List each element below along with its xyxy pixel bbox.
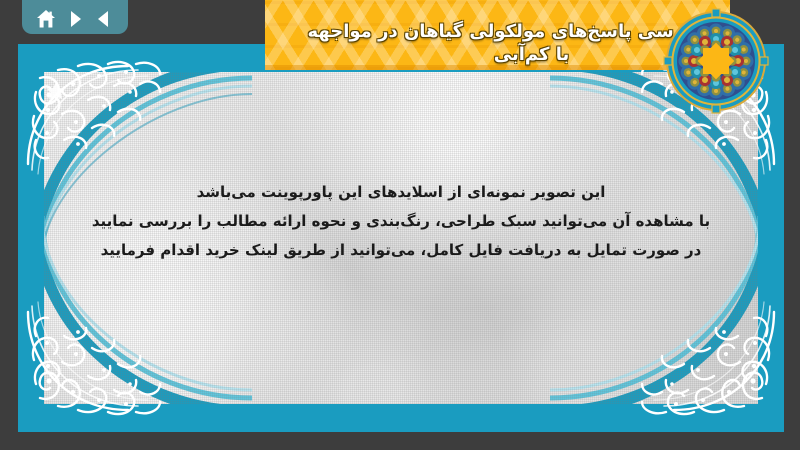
slide-body-text: این تصویر نمونه‌ای از اسلایدهای این پاور… [58,182,744,269]
previous-arrow-icon[interactable] [94,9,114,29]
next-arrow-icon[interactable] [65,9,85,29]
desktop-background: این تصویر نمونه‌ای از اسلایدهای این پاور… [0,0,800,450]
body-line-1: این تصویر نمونه‌ای از اسلایدهای این پاور… [58,182,744,203]
slide-navigation-bar[interactable] [22,0,128,34]
body-line-3: در صورت تمایل به دریافت فایل کامل، می‌تو… [58,240,744,261]
slide-title-banner: بررسی پاسخ‌های مولکولی گیاهان در مواجهه … [265,0,730,70]
home-icon[interactable] [36,9,56,29]
body-line-2: با مشاهده آن می‌توانید سبک طراحی، رنگ‌بن… [58,211,744,232]
persian-medallion-ornament-icon [663,8,769,114]
slide-title-line-1: بررسی پاسخ‌های مولکولی گیاهان در مواجهه [265,20,730,43]
slide-title-line-2: با کم‌آبی [265,43,730,66]
